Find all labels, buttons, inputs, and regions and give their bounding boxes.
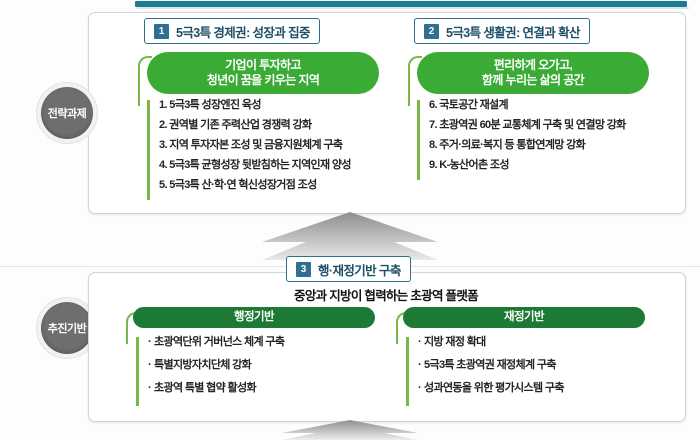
list-item-label: 성과연동을 위한 평가시스템 구축 (424, 382, 564, 394)
section-2-list: 6. 국토공간 재설계 7. 초광역권 60분 교통체계 구축 및 연결망 강화… (417, 100, 679, 180)
list-item-label: 5극3특 초광역권 재정체계 구축 (424, 359, 556, 371)
bullet-icon: · (418, 336, 421, 348)
upward-arrow-middle (262, 212, 438, 260)
list-item: 9. K-농산어촌 조성 (429, 160, 679, 171)
bullet-icon: · (418, 359, 421, 371)
list-item: ·지방 재정 확대 (418, 337, 668, 348)
finance-base-header: 재정기반 (403, 307, 645, 328)
list-item: ·성과연동을 위한 평가시스템 구축 (418, 383, 668, 394)
section-3-title: 행·재정기반 구축 (318, 260, 401, 279)
list-item: 7. 초광역권 60분 교통체계 구축 및 연결망 강화 (429, 120, 679, 131)
list-item-label: 초광역단위 거버넌스 체계 구축 (154, 336, 284, 348)
list-item: ·초광역 특별 협약 활성화 (148, 383, 388, 394)
list-item: ·초광역단위 거버넌스 체계 구축 (148, 337, 388, 348)
list-item: 6. 국토공간 재설계 (429, 100, 679, 111)
section-1-headline: 기업이 투자하고 청년이 꿈을 키우는 지역 (147, 52, 379, 94)
section-3-title-chip: 3 행·재정기반 구축 (286, 256, 411, 282)
list-item: 1. 5극3특 성장엔진 육성 (159, 100, 397, 111)
admin-base-list: ·초광역단위 거버넌스 체계 구축 ·특별지방자치단체 강화 ·초광역 특별 협… (136, 337, 388, 406)
section-2-number: 2 (424, 24, 439, 39)
section-1-number: 1 (154, 24, 169, 39)
list-item: 8. 주거·의료·복지 등 통합연계망 강화 (429, 140, 679, 151)
badge-strategy: 전략과제 (36, 82, 98, 144)
section-2-headline-line1: 편리하게 오가고, (494, 58, 573, 73)
list-item: 5. 5극3특 산·학·연 혁신성장거점 조성 (159, 180, 397, 191)
section-2-headline-line2: 함께 누리는 삶의 공간 (482, 73, 584, 88)
list-item-label: 초광역 특별 협약 활성화 (154, 382, 256, 394)
section-1-headline-line2: 청년이 꿈을 키우는 지역 (207, 73, 320, 88)
badge-strategy-label: 전략과제 (41, 87, 93, 139)
upward-arrow-bottom (282, 420, 418, 440)
list-item: 2. 권역별 기존 주력산업 경쟁력 강화 (159, 120, 397, 131)
section-2-title: 5극3특 생활권: 연결과 확산 (446, 22, 580, 41)
bullet-icon: · (148, 359, 151, 371)
top-accent-bar-shadow (137, 7, 689, 9)
section-2-headline: 편리하게 오가고, 함께 누리는 삶의 공간 (417, 52, 649, 94)
section-1-title-chip: 1 5극3특 경제권: 성장과 집중 (144, 18, 320, 44)
list-item-label: 특별지방자치단체 강화 (154, 359, 251, 371)
admin-base-header: 행정기반 (133, 307, 375, 328)
section-1-headline-line1: 기업이 투자하고 (225, 58, 301, 73)
diagram-canvas: 전략과제 추진기반 1 5극3특 경제권: 성장과 집중 2 5극3특 생활권:… (0, 0, 700, 440)
section-1-list: 1. 5극3특 성장엔진 육성 2. 권역별 기존 주력산업 경쟁력 강화 3.… (147, 100, 397, 200)
bullet-icon: · (148, 336, 151, 348)
list-item-label: 지방 재정 확대 (424, 336, 486, 348)
list-item: ·특별지방자치단체 강화 (148, 360, 388, 371)
badge-base-label: 추진기반 (41, 302, 93, 354)
base-subtitle: 중앙과 지방이 협력하는 초광역 플랫폼 (88, 285, 684, 304)
finance-base-list: ·지방 재정 확대 ·5극3특 초광역권 재정체계 구축 ·성과연동을 위한 평… (406, 337, 668, 406)
section-2-title-chip: 2 5극3특 생활권: 연결과 확산 (414, 18, 590, 44)
section-3-number: 3 (296, 262, 311, 277)
list-item: 3. 지역 투자자본 조성 및 금융지원체계 구축 (159, 140, 397, 151)
bullet-icon: · (148, 382, 151, 394)
bullet-icon: · (418, 382, 421, 394)
list-item: ·5극3특 초광역권 재정체계 구축 (418, 360, 668, 371)
list-item: 4. 5극3특 균형성장 뒷받침하는 지역인재 양성 (159, 160, 397, 171)
section-1-title: 5극3특 경제권: 성장과 집중 (176, 22, 310, 41)
